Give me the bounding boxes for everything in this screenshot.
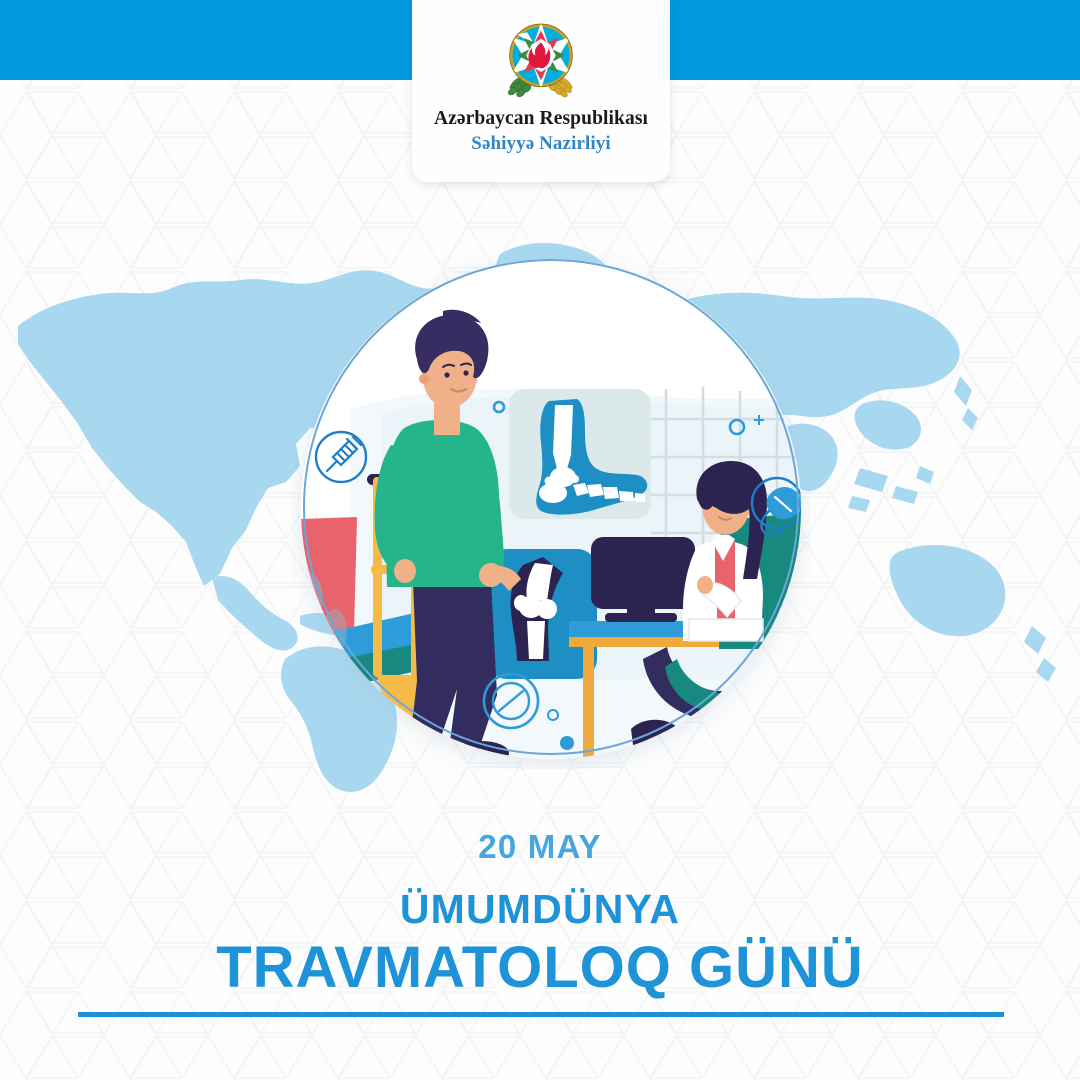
logo-line-2: Səhiyyə Nazirliyi bbox=[471, 133, 610, 155]
orthopedic-clinic-illustration bbox=[291, 249, 811, 769]
title-line-1: ÜMUMDÜNYA bbox=[0, 886, 1080, 933]
bottom-divider bbox=[78, 1012, 1004, 1017]
title-line-2: TRAVMATOLOQ GÜNÜ bbox=[0, 934, 1080, 1001]
foot-xray-panel bbox=[509, 389, 651, 519]
accent-dot-filled bbox=[560, 736, 574, 750]
tablet-pill-icon bbox=[484, 674, 538, 728]
poster-canvas: Azərbaycan Respublikası Səhiyyə Nazirliy… bbox=[0, 0, 1080, 1080]
scene-contents bbox=[291, 249, 811, 769]
logo-line-1: Azərbaycan Respublikası bbox=[434, 108, 648, 130]
event-date: 20 MAY bbox=[0, 828, 1080, 866]
azerbaijan-state-emblem bbox=[495, 14, 587, 106]
ministry-logo-card: Azərbaycan Respublikası Səhiyyə Nazirliy… bbox=[412, 0, 670, 182]
